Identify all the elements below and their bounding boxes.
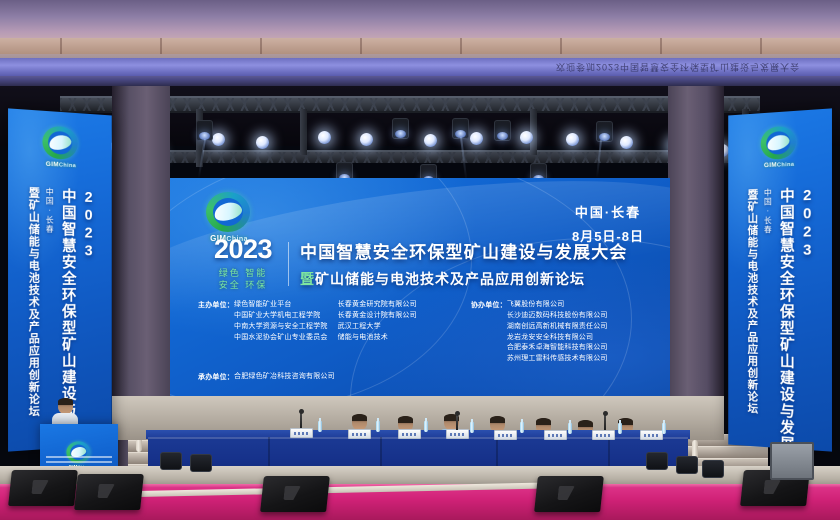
water-bottle [618,423,622,434]
led-ticker-text: 欢迎参加2023中国智慧安全环保型矿山建设与发展大会 [556,58,800,76]
name-plate [348,429,371,439]
spotlight-icon [620,136,633,149]
event-titles: 中国智慧安全环保型矿山建设与发展大会 暨矿山储能与电池技术及产品应用创新论坛 [300,238,628,289]
event-title-main: 中国智慧安全环保型矿山建设与发展大会 [300,238,628,263]
host-list-col2: 长春黄金研究院有限公司 长春黄金设计院有限公司 武汉工程大学 储能与电池技术 [338,300,417,365]
moving-head-light-icon [596,121,613,142]
water-bottle [376,421,380,432]
water-bottle [424,421,428,432]
banner-right: GIMChina 2023 中国智慧安全环保型矿山建设与发展大会 中国·长春 暨… [728,108,832,451]
title-divider [288,242,289,286]
water-bottle [568,423,572,434]
ceiling-beam [0,38,840,54]
event-year-block: 2023 绿色 智能 安全 环保 [204,236,282,291]
name-plate [592,430,615,440]
led-ticker-strip: 欢迎参加2023中国智慧安全环保型矿山建设与发展大会 [0,58,840,76]
stage-monitor-speaker [534,476,604,512]
event-slogan: 绿色 智能 安全 环保 [204,267,282,291]
water-bottle [470,422,474,433]
hall-ceiling: 欢迎参加2023中国智慧安全环保型矿山建设与发展大会 [0,0,840,92]
banner-left-year: 2023 [81,189,95,445]
gim-china-logo: GIMChina [758,125,801,168]
main-led-screen: GIMChina 中国·长春 8月5日-8日 2023 绿色 智能 安全 环保 … [170,178,670,396]
name-plate [446,429,469,439]
water-bottle [520,422,524,433]
name-plate [290,428,313,438]
banner-right-city: 中国·长春 [762,188,773,445]
spotlight-icon [360,133,373,146]
banner-right-year: 2023 [800,187,815,449]
microphone-icon [604,414,606,430]
name-plate [398,429,421,439]
banner-right-title-sub: 暨矿山储能与电池技术及产品应用创新论坛 [744,189,759,445]
organizer-value: 合肥绿色矿冶科技咨询有限公司 [234,372,335,383]
name-plate [494,430,517,440]
gim-china-logo: GIMChina [64,441,94,469]
microphone-icon [456,414,458,430]
microphone-icon [300,412,302,428]
name-plate [544,430,567,440]
spotlight-icon [424,134,437,147]
conference-stage-photo: 欢迎参加2023中国智慧安全环保型矿山建设与发展大会 [0,0,840,520]
event-title-sub: 暨矿山储能与电池技术及产品应用创新论坛 [300,269,628,289]
organizer-label: 承办单位： [198,372,234,383]
equipment-road-case [770,442,814,480]
stage-monitor-speaker [260,476,330,512]
stage-monitor-speaker [8,470,78,506]
event-title-row: 2023 绿色 智能 安全 环保 中国智慧安全环保型矿山建设与发展大会 暨矿山储… [204,236,628,291]
event-year: 2023 [204,236,282,263]
cohost-group: 协办单位： 飞翼股份有限公司 长沙迪迈数码科技股份有限公司 湖南创远高新机械有限… [471,300,608,365]
cohost-list: 飞翼股份有限公司 长沙迪迈数码科技股份有限公司 湖南创远高新机械有限责任公司 龙… [507,300,608,365]
banner-right-title-main: 中国智慧安全环保型矿山建设与发展大会 [776,187,797,447]
name-plate [640,430,663,440]
gim-logo-text: GIMChina [39,160,82,169]
spotlight-icon [470,132,483,145]
organizer-group: 承办单位： 合肥绿色矿冶科技咨询有限公司 [198,372,652,383]
gim-china-logo: GIMChina [39,125,82,168]
stage-monitor-speaker [74,474,144,510]
floor-wash-light-icon [676,456,698,474]
moving-head-light-icon [494,120,511,141]
floor-wash-light-icon [160,452,182,470]
moving-head-light-icon [196,120,213,141]
spotlight-icon [212,133,225,146]
event-city: 中国·长春 [572,202,644,221]
sponsor-block: 主办单位： 绿色智能矿业平台 中国矿业大学机电工程学院 中南大学资源与安全工程学… [198,300,652,383]
moving-head-light-icon [452,118,469,139]
lighting-truss-lower [150,150,750,163]
spotlight-icon [256,136,269,149]
spotlight-icon [566,133,579,146]
spotlight-icon [318,131,331,144]
truss-leg [300,109,307,155]
floor-wash-light-icon [646,452,668,470]
gim-logo-text: GIMChina [758,160,801,169]
water-bottle [662,423,666,434]
floor-wash-light-icon [190,454,212,472]
host-label: 主办单位： [198,300,234,365]
host-group: 主办单位： 绿色智能矿业平台 中国矿业大学机电工程学院 中南大学资源与安全工程学… [198,300,417,365]
water-bottle [318,421,322,432]
spotlight-icon [520,131,533,144]
banner-left-title-sub: 暨矿山储能与电池技术及产品应用创新论坛 [25,187,41,449]
moving-head-light-icon [392,118,409,139]
host-list-col1: 绿色智能矿业平台 中国矿业大学机电工程学院 中南大学资源与安全工程学院 中国水泥… [234,300,328,365]
floor-wash-light-icon [702,460,724,478]
cohost-label: 协办单位： [471,300,507,365]
